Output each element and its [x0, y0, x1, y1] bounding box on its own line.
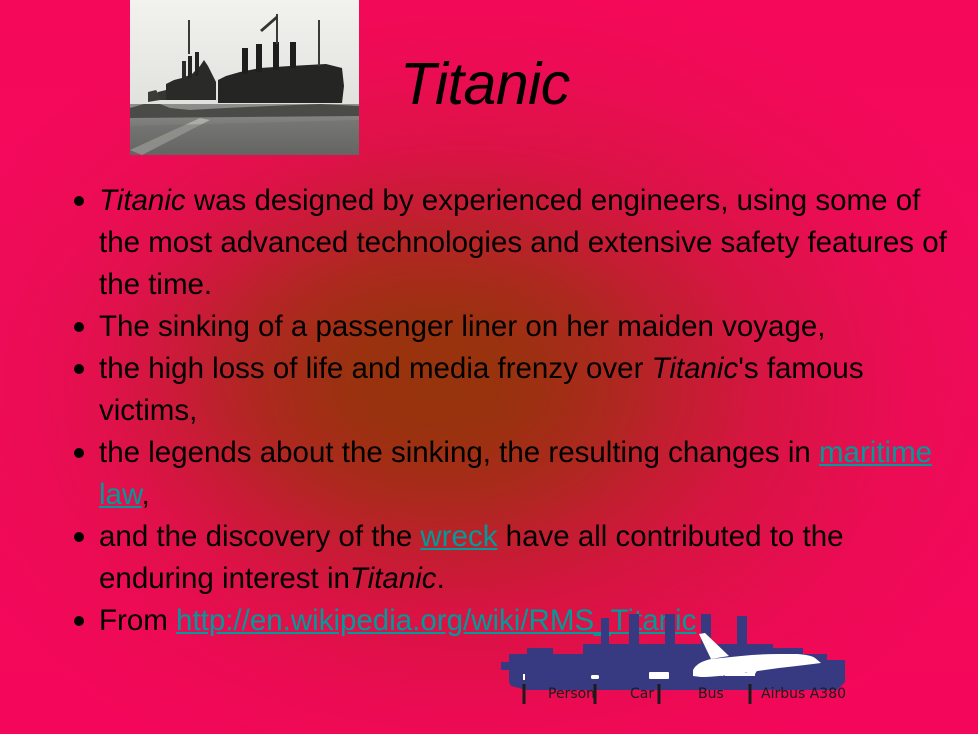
ship-silhouette	[509, 614, 845, 690]
bullet-marker-icon	[74, 616, 84, 626]
bullet-text: and the discovery of the	[99, 520, 420, 553]
page-title: Titanic	[400, 50, 570, 118]
scale-label-bus: Bus	[698, 686, 724, 702]
bullet-text: ,	[142, 478, 150, 511]
hyperlink[interactable]: wreck	[420, 520, 497, 553]
bullet-text: From	[99, 604, 176, 637]
bullet-text: .	[437, 562, 445, 595]
presentation-slide: Titanic Titanic was designed by experien…	[0, 0, 978, 734]
bullet-item: The sinking of a passenger liner on her …	[68, 306, 948, 348]
emphasized-text: Titanic	[99, 184, 186, 217]
scale-comparison-diagram: Person Car Bus Airbus A380	[497, 604, 897, 734]
person-scale-marker	[523, 674, 525, 680]
bullet-list: Titanic was designed by experienced engi…	[68, 180, 948, 642]
bullet-marker-icon	[74, 364, 84, 374]
car-scale-marker	[591, 675, 599, 679]
scale-label-airbus: Airbus A380	[761, 686, 846, 702]
bus-scale-marker	[649, 672, 669, 679]
titanic-scale-graphic	[497, 604, 897, 734]
ship-bow-detail	[501, 662, 509, 682]
emphasized-text: Titanic	[652, 352, 739, 385]
bullet-item: the high loss of life and media frenzy o…	[68, 348, 948, 432]
bullet-marker-icon	[74, 196, 84, 206]
bullet-text: The sinking of a passenger liner on her …	[99, 310, 825, 343]
bullet-item: and the discovery of the wreck have all …	[68, 516, 948, 600]
bullet-item: the legends about the sinking, the resul…	[68, 432, 948, 516]
bullet-marker-icon	[74, 322, 84, 332]
emphasized-text: Titanic	[350, 562, 437, 595]
titanic-photo-graphic	[130, 0, 359, 155]
bullet-text: the high loss of life and media frenzy o…	[99, 352, 652, 385]
scale-label-person: Person	[548, 686, 595, 702]
scale-label-car: Car	[630, 686, 654, 702]
bullet-text: the legends about the sinking, the resul…	[99, 436, 819, 469]
bullet-marker-icon	[74, 448, 84, 458]
bullet-marker-icon	[74, 532, 84, 542]
bullet-text: was designed by experienced engineers, u…	[99, 184, 947, 301]
titanic-photograph	[130, 0, 359, 155]
bullet-item: Titanic was designed by experienced engi…	[68, 180, 948, 306]
